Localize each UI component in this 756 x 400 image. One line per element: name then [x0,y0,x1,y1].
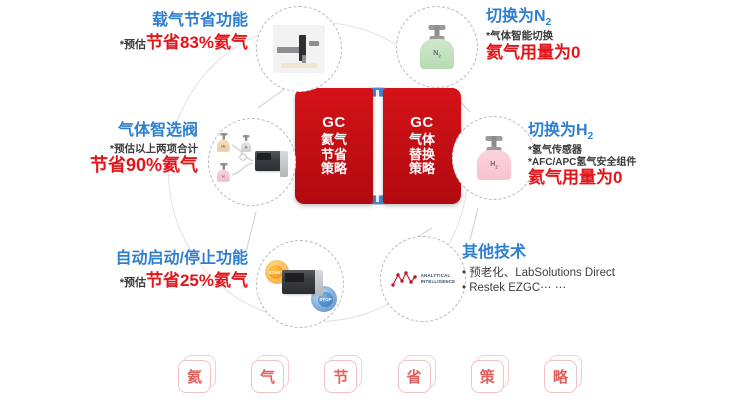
tile-label: 略 [544,360,577,393]
bullet-switch-to-h2-2: *AFC/APC氢气安全组件 [528,157,756,169]
bullet-other-tech-2: • Restek EZGC⋯ ⋯ [462,281,752,296]
tile-0[interactable]: 氦 [178,358,212,392]
card-right-line-2: 替换 [409,148,435,163]
text-carrier-gas-saver: 载气节省功能 *预估节省83%氦气 [8,12,248,52]
badge-start: START [269,265,283,279]
text-gas-smart-select-valve: 气体智选阀 *预估以上两项合计 节省90%氦气 [0,122,198,175]
node-switch-to-h2[interactable]: H2 [452,116,536,200]
cylinders-instrument-icon: He H N [215,131,289,193]
heading-other-technologies: 其他技术 [462,244,752,262]
tile-3[interactable]: 省 [398,358,432,392]
h2-cylinder-icon: H2 [477,136,511,180]
tile-1[interactable]: 气 [251,358,285,392]
heading-switch-to-n2: 切换为N2 [486,8,746,28]
tile-label: 策 [471,360,504,393]
ai-mark-icon [391,270,417,288]
n2-cylinder-icon: N2 [420,25,454,69]
ai-logo-line-2: INTELLIGENCE [421,279,456,285]
text-switch-to-h2: 切换为H2 *氢气传感器 *AFC/APC氢气安全组件 氦气用量为0 [528,122,756,188]
bottom-tile-strip: 氦 气 节 省 策 略 [178,358,578,398]
tile-label: 气 [251,360,284,393]
tile-label: 节 [324,360,357,393]
heading-auto-start-stop: 自动启动/停止功能 [18,250,248,268]
text-switch-to-n2: 切换为N2 *气体智能切换 氦气用量为0 [486,8,746,63]
card-left-line-2: 节省 [321,148,347,163]
detail-prefix-carrier-gas-saver: *预估 [120,39,146,51]
tile-label: 省 [398,360,431,393]
center-strategy-cards: GC 氦气 节省 策略 GC 气体 替换 策略 [295,88,461,204]
node-switch-to-n2[interactable]: N2 [396,6,478,88]
detail-highlight-carrier-gas-saver: 节省83%氦气 [146,33,248,52]
highlight-switch-to-n2: 氦气用量为0 [486,44,746,63]
detail-highlight-auto-start-stop: 节省25%氦气 [146,271,248,290]
card-divider [376,90,379,202]
analytical-intelligence-logo-icon: ANALYTICAL INTELLIGENCE [391,270,456,288]
tile-4[interactable]: 策 [471,358,505,392]
heading-switch-to-h2: 切换为H2 [528,122,756,142]
card-right-line-1: 气体 [409,133,435,148]
bullet-switch-to-n2-1: *气体智能切换 [486,30,746,42]
tile-label: 氦 [178,360,211,393]
node-gas-smart-select-valve[interactable]: He H N [208,118,296,206]
detail-prefix-auto-start-stop: *预估 [120,277,146,289]
node-auto-start-stop[interactable]: START STOP [256,240,344,328]
card-left-line-3: 策略 [321,162,347,177]
card-gas-replacement-strategy[interactable]: GC 气体 替换 策略 [383,88,461,204]
bullet-other-tech-1: • 预老化、LabSolutions Direct [462,266,752,281]
text-auto-start-stop: 自动启动/停止功能 *预估节省25%氦气 [18,250,248,290]
node-other-technologies[interactable]: ANALYTICAL INTELLIGENCE [380,236,466,322]
infographic-canvas: GC 氦气 节省 策略 GC 气体 替换 策略 载气节省功能 [0,0,756,400]
bullet-switch-to-h2-1: *氢气传感器 [528,145,756,157]
card-left-line-1: 氦气 [321,133,347,148]
valve-photo-icon [273,25,325,73]
card-he-saving-strategy[interactable]: GC 氦气 节省 策略 [295,88,373,204]
highlight-switch-to-h2: 氦气用量为0 [528,169,756,188]
n2-cylinder-label: N2 [433,50,440,58]
h2-cylinder-label: H2 [490,161,497,169]
detail-prefix-gas-smart-select-valve: *预估以上两项合计 [0,143,198,155]
card-left-title: GC [322,115,346,130]
card-right-line-3: 策略 [409,162,435,177]
node-carrier-gas-saver[interactable] [256,6,342,92]
heading-carrier-gas-saver: 载气节省功能 [8,12,248,30]
tile-5[interactable]: 略 [544,358,578,392]
detail-highlight-gas-smart-select-valve: 节省90%氦气 [0,156,198,176]
card-right-title: GC [410,115,434,130]
heading-gas-smart-select-valve: 气体智选阀 [0,122,198,140]
tile-2[interactable]: 节 [324,358,358,392]
text-other-technologies: 其他技术 • 预老化、LabSolutions Direct • Restek … [462,244,752,295]
gc-instrument-start-stop-icon: START STOP [265,256,335,312]
